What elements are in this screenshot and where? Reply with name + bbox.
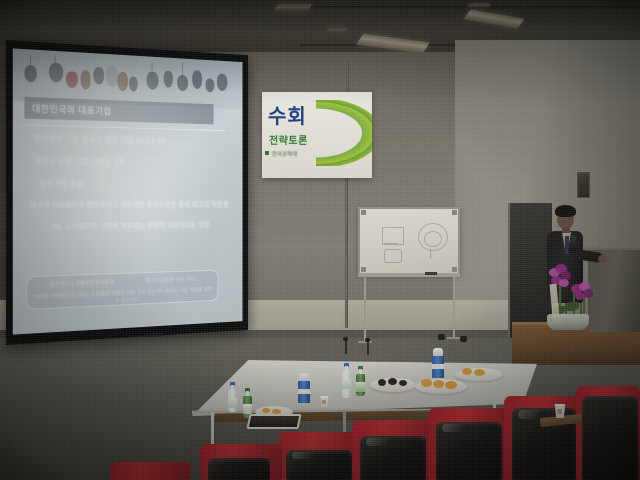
chair-cushion	[208, 458, 270, 480]
slide-note-left: 창의적이고 개방적인 조직문화	[50, 278, 114, 288]
ceiling-seam	[280, 6, 640, 8]
microphone-icon	[571, 235, 576, 251]
food-item	[262, 408, 270, 413]
slide-note-row-2: 이러한 기업들이 요구하는 우리들의 역량은 어떤 것이 있는가? 우리는 그런…	[33, 285, 213, 308]
slide-body: 한국에서 가장 일하고 싶은 기업 BEST 30 일하고 싶은 기업 선호도 …	[13, 132, 243, 245]
cup-rim	[243, 404, 252, 406]
presenter-hair	[555, 205, 576, 217]
banner-arrow-graphic	[316, 100, 372, 166]
whiteboard-leg	[364, 277, 366, 343]
food-item	[378, 379, 386, 386]
projection-screen: 대한민국의 대표기업 한국에서 가장 일하고 싶은 기업 BEST 30 일하고…	[6, 40, 248, 345]
auditorium-chair[interactable]	[352, 420, 436, 480]
banner-bullet	[265, 151, 269, 155]
cup-rim	[320, 396, 329, 398]
floor-object	[460, 336, 467, 342]
event-banner: 수회 전략토론 한국공학대	[262, 92, 372, 178]
food-item	[462, 368, 472, 375]
cup-logo	[322, 400, 326, 404]
chair-back	[110, 462, 190, 480]
bottle-label	[342, 379, 351, 389]
slide-title-rule	[21, 124, 225, 131]
cup-logo	[557, 409, 562, 414]
whiteboard-sketch	[430, 249, 431, 259]
banner-caption: 한국공학대	[272, 150, 297, 158]
auditorium-chair[interactable]	[110, 462, 190, 480]
slide-note-right: 최고의 직장을 위한 키워드	[146, 275, 198, 284]
slide-line-3: - 삼성그룹 종합	[13, 178, 243, 189]
auditorium-chair[interactable]	[576, 386, 640, 480]
food-item	[388, 378, 397, 385]
dark-tray	[246, 414, 301, 429]
banner-heading: 수회	[268, 100, 307, 129]
flower-arrangement	[539, 262, 601, 332]
photo-scene: 대한민국의 대표기업 한국에서 가장 일하고 싶은 기업 BEST 30 일하고…	[0, 0, 640, 480]
floor-object	[365, 338, 370, 342]
food-item	[445, 381, 457, 389]
chair-cushion	[582, 396, 638, 480]
chair-highlight	[366, 438, 408, 446]
thermos-canister	[298, 373, 310, 403]
cup-rim	[554, 404, 563, 406]
slide-line-1: 한국에서 가장 일하고 싶은 기업 BEST 30	[13, 132, 243, 148]
slide-line-5: '06, 지어지더라 기여로 제조에는 선망의 대상이다는 것은	[13, 220, 243, 233]
banner-pole	[346, 60, 349, 96]
bottle-label	[356, 382, 365, 392]
ceiling-vent	[327, 28, 347, 32]
whiteboard-foot	[447, 337, 461, 339]
canister-label	[432, 364, 444, 369]
whiteboard-sketch	[384, 249, 402, 263]
auditorium-chair[interactable]	[200, 444, 282, 480]
slide-title-text: 대한민국의 대표기업	[24, 101, 111, 118]
whiteboard-sketch	[384, 243, 398, 244]
flower-basket	[547, 314, 589, 330]
floor-object	[345, 340, 347, 354]
food-item	[433, 380, 444, 388]
slide-surface: 대한민국의 대표기업 한국에서 가장 일하고 싶은 기업 BEST 30 일하고…	[13, 48, 243, 334]
whiteboard-sketch	[424, 231, 442, 247]
slide-line-4: 체계적 인재관리와 창의적이고 개방적인 조직문화를 통해 최고의 직장성	[13, 200, 243, 211]
slide-note-box: 창의적이고 개방적인 조직문화 최고의 직장을 위한 키워드 이러한 기업들이 …	[26, 270, 218, 310]
banner-pole	[345, 178, 348, 328]
wall-speaker-icon	[577, 172, 590, 198]
chair-highlight	[292, 452, 332, 459]
ceiling-light	[274, 4, 313, 11]
floor-object	[438, 334, 445, 340]
bottle-label	[228, 398, 237, 408]
whiteboard-leg	[453, 277, 455, 339]
food-item	[399, 380, 407, 386]
auditorium-chair[interactable]	[428, 408, 512, 480]
canister-label	[298, 389, 310, 394]
whiteboard-marker	[425, 272, 437, 275]
floor-object	[367, 341, 369, 355]
banner-subheading: 전략토론	[269, 132, 308, 147]
ceiling-light	[467, 3, 491, 7]
floor-object	[343, 337, 348, 341]
food-item	[421, 379, 432, 387]
chair-highlight	[442, 424, 484, 432]
whiteboard-tray	[358, 273, 460, 277]
whiteboard	[358, 207, 460, 275]
thermos-canister	[432, 348, 444, 378]
food-item	[474, 369, 485, 376]
slide-line-2: 일하고 싶은 기업 선호도 1위	[13, 155, 243, 168]
